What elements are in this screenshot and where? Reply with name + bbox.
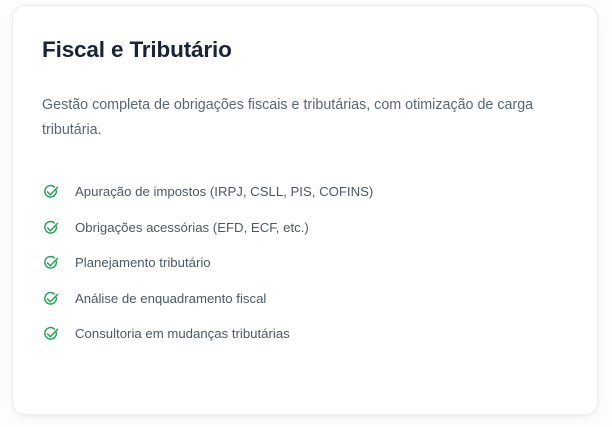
service-card: Fiscal e Tributário Gestão completa de o… — [12, 5, 598, 415]
list-item: Análise de enquadramento fiscal — [43, 290, 569, 307]
list-item-label: Consultoria em mudanças tributárias — [75, 325, 290, 342]
list-item-label: Planejamento tributário — [75, 254, 211, 271]
check-circle-icon — [43, 184, 59, 200]
feature-list: Apuração de impostos (IRPJ, CSLL, PIS, C… — [41, 143, 569, 342]
check-circle-icon — [43, 255, 59, 271]
page-title: Fiscal e Tributário — [41, 36, 569, 64]
list-item: Apuração de impostos (IRPJ, CSLL, PIS, C… — [43, 183, 569, 200]
list-item: Consultoria em mudanças tributárias — [43, 325, 569, 342]
list-item-label: Obrigações acessórias (EFD, ECF, etc.) — [75, 219, 309, 236]
check-circle-icon — [43, 291, 59, 307]
list-item: Obrigações acessórias (EFD, ECF, etc.) — [43, 219, 569, 236]
card-description: Gestão completa de obrigações fiscais e … — [41, 64, 564, 143]
check-circle-icon — [43, 326, 59, 342]
list-item-label: Apuração de impostos (IRPJ, CSLL, PIS, C… — [75, 183, 373, 200]
check-circle-icon — [43, 220, 59, 236]
list-item-label: Análise de enquadramento fiscal — [75, 290, 266, 307]
page-root: Fiscal e Tributário Gestão completa de o… — [0, 0, 612, 427]
list-item: Planejamento tributário — [43, 254, 569, 271]
